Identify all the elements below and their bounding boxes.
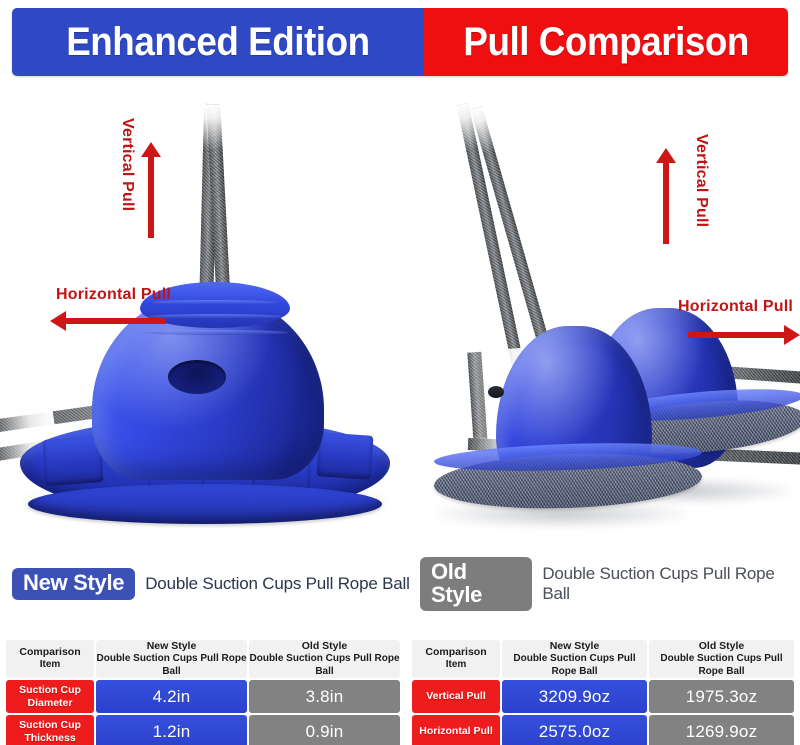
table-row: Vertical Pull 3209.9oz 1975.3oz bbox=[412, 680, 794, 713]
table-row: Horizontal Pull 2575.0oz 1269.9oz bbox=[412, 715, 794, 745]
comparison-table-dimensions: Comparison Item New Style Double Suction… bbox=[4, 638, 402, 745]
photo-old-style: Vertical Pull Horizontal Pull bbox=[412, 86, 800, 556]
header-line2: Item bbox=[6, 659, 94, 672]
annotation-new-vertical-arrow bbox=[141, 142, 161, 238]
header-comparison-item: Comparison Item bbox=[412, 640, 500, 678]
new-style-caption: Double Suction Cups Pull Rope Ball bbox=[145, 574, 409, 594]
header-line1: Old Style bbox=[302, 640, 348, 652]
header-line2: Double Suction Cups Pull Rope Ball bbox=[649, 653, 794, 678]
arrow-shaft bbox=[688, 332, 786, 338]
header-old-style: Old Style Double Suction Cups Pull Rope … bbox=[649, 640, 794, 678]
new-style-pill: New Style bbox=[12, 568, 135, 599]
banner-right-half: Pull Comparison bbox=[424, 8, 788, 76]
table-header-row: Comparison Item New Style Double Suction… bbox=[412, 640, 794, 678]
header-line1: Comparison bbox=[425, 646, 486, 658]
value-new-horizontal-pull: 2575.0oz bbox=[502, 715, 647, 745]
header-line1: Old Style bbox=[699, 640, 745, 652]
product-photo-stage: Vertical Pull Horizontal Pull bbox=[0, 86, 800, 556]
new-cup-rope-hole bbox=[168, 360, 226, 394]
row-label-horizontal-pull: Horizontal Pull bbox=[412, 715, 500, 745]
annotation-old-vertical-pull-label: Vertical Pull bbox=[692, 134, 710, 227]
new-cup-foot-4 bbox=[317, 432, 374, 480]
header-line1: New Style bbox=[550, 640, 600, 652]
row-label-line2: Diameter bbox=[28, 697, 73, 709]
old-style-pill: Old Style bbox=[420, 557, 532, 611]
strap-old-bend-a bbox=[467, 352, 488, 449]
arrow-right-icon bbox=[784, 325, 800, 345]
header-comparison-item: Comparison Item bbox=[6, 640, 94, 678]
table-row: Suction Cup Diameter 4.2in 3.8in bbox=[6, 680, 400, 713]
header-line2: Double Suction Cups Pull Rope Ball bbox=[96, 653, 247, 678]
row-label-suction-cup-diameter: Suction Cup Diameter bbox=[6, 680, 94, 713]
row-label-line1: Suction Cup bbox=[19, 719, 81, 731]
value-new-thickness: 1.2in bbox=[96, 715, 247, 745]
header-line1: New Style bbox=[147, 640, 197, 652]
header-line2: Item bbox=[412, 659, 500, 672]
infographic-page: Enhanced Edition Pull Comparison bbox=[0, 0, 800, 745]
header-new-style: New Style Double Suction Cups Pull Rope … bbox=[96, 640, 247, 678]
banner-left-half: Enhanced Edition bbox=[12, 8, 424, 76]
header-line2: Double Suction Cups Pull Rope Ball bbox=[249, 653, 400, 678]
banner-right-title: Pull Comparison bbox=[463, 22, 748, 62]
value-old-thickness: 0.9in bbox=[249, 715, 400, 745]
value-old-diameter: 3.8in bbox=[249, 680, 400, 713]
annotation-new-horizontal-arrow bbox=[50, 310, 166, 332]
header-line1: Comparison bbox=[19, 646, 80, 658]
table-row: Suction Cup Thickness 1.2in 0.9in bbox=[6, 715, 400, 745]
header-new-style: New Style Double Suction Cups Pull Rope … bbox=[502, 640, 647, 678]
old-style-label-row: Old Style Double Suction Cups Pull Rope … bbox=[420, 566, 800, 602]
annotation-old-vertical-arrow bbox=[656, 148, 676, 244]
row-label-suction-cup-thickness: Suction Cup Thickness bbox=[6, 715, 94, 745]
arrow-shaft bbox=[64, 318, 166, 324]
annotation-new-horizontal-pull-label: Horizontal Pull bbox=[56, 286, 171, 304]
header-line2: Double Suction Cups Pull Rope Ball bbox=[502, 653, 647, 678]
value-old-horizontal-pull: 1269.9oz bbox=[649, 715, 794, 745]
arrow-shaft bbox=[148, 153, 154, 238]
row-label-line1: Suction Cup bbox=[19, 684, 81, 696]
new-cup-ring-2 bbox=[148, 314, 282, 319]
photo-new-style: Vertical Pull Horizontal Pull bbox=[0, 86, 412, 556]
annotation-old-horizontal-arrow bbox=[688, 324, 800, 346]
title-banner: Enhanced Edition Pull Comparison bbox=[12, 8, 788, 76]
comparison-table-pull-force: Comparison Item New Style Double Suction… bbox=[410, 638, 796, 745]
banner-left-title: Enhanced Edition bbox=[66, 22, 369, 62]
old-style-caption: Double Suction Cups Pull Rope Ball bbox=[542, 564, 800, 604]
old-cup-side-knob bbox=[488, 386, 504, 398]
row-label-vertical-pull: Vertical Pull bbox=[412, 680, 500, 713]
table-header-row: Comparison Item New Style Double Suction… bbox=[6, 640, 400, 678]
new-cup-rim bbox=[28, 484, 382, 524]
new-style-label-row: New Style Double Suction Cups Pull Rope … bbox=[12, 566, 410, 602]
annotation-new-vertical-pull-label: Vertical Pull bbox=[118, 118, 136, 211]
value-old-vertical-pull: 1975.3oz bbox=[649, 680, 794, 713]
row-label-line2: Thickness bbox=[24, 732, 75, 744]
header-old-style: Old Style Double Suction Cups Pull Rope … bbox=[249, 640, 400, 678]
value-new-diameter: 4.2in bbox=[96, 680, 247, 713]
arrow-shaft bbox=[663, 159, 669, 244]
value-new-vertical-pull: 3209.9oz bbox=[502, 680, 647, 713]
annotation-old-horizontal-pull-label: Horizontal Pull bbox=[678, 298, 793, 316]
